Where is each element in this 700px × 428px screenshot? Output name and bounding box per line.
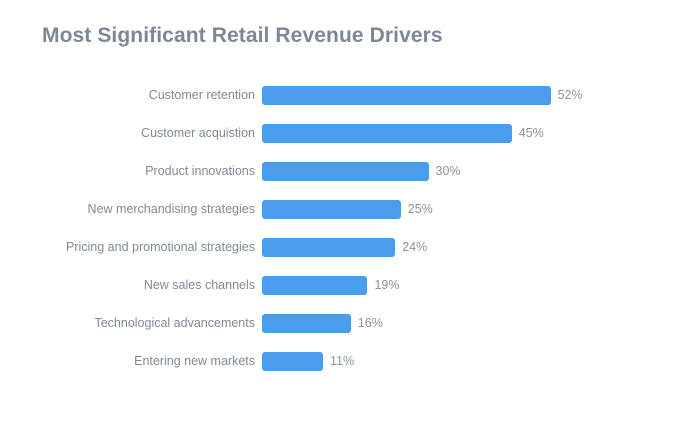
bar-category-label: Technological advancements — [0, 316, 255, 330]
bar-category-label: New merchandising strategies — [0, 202, 255, 216]
bar-row: Pricing and promotional strategies 24% — [0, 228, 700, 266]
bar-value-label: 24% — [402, 240, 427, 254]
bar-track: 19% — [255, 266, 700, 304]
bar-track: 25% — [255, 190, 700, 228]
chart-canvas: Most Significant Retail Revenue Drivers … — [0, 0, 700, 428]
bar-track: 30% — [255, 152, 700, 190]
bar-row: Customer retention 52% — [0, 76, 700, 114]
bar-row: Customer acquistion 45% — [0, 114, 700, 152]
bar-value-label: 25% — [408, 202, 433, 216]
bar-chart-plot-area: Customer retention 52% Customer acquisti… — [0, 76, 700, 380]
bar-row: New sales channels 19% — [0, 266, 700, 304]
bar-fill[interactable] — [262, 314, 351, 333]
bar-category-label: New sales channels — [0, 278, 255, 292]
bar-fill[interactable] — [262, 162, 429, 181]
bar-fill[interactable] — [262, 238, 395, 257]
bar-value-label: 11% — [330, 354, 354, 368]
bar-fill[interactable] — [262, 276, 367, 295]
bar-track: 52% — [255, 76, 700, 114]
bar-row: New merchandising strategies 25% — [0, 190, 700, 228]
bar-category-label: Customer retention — [0, 88, 255, 102]
bar-value-label: 16% — [358, 316, 383, 330]
bar-fill[interactable] — [262, 352, 323, 371]
chart-title: Most Significant Retail Revenue Drivers — [42, 24, 443, 48]
bar-fill[interactable] — [262, 124, 512, 143]
bar-category-label: Customer acquistion — [0, 126, 255, 140]
bar-category-label: Pricing and promotional strategies — [0, 240, 255, 254]
bar-track: 16% — [255, 304, 700, 342]
bar-track: 45% — [255, 114, 700, 152]
bar-value-label: 19% — [374, 278, 399, 292]
bar-row: Entering new markets 11% — [0, 342, 700, 380]
bar-value-label: 45% — [519, 126, 544, 140]
bar-row: Product innovations 30% — [0, 152, 700, 190]
bar-value-label: 52% — [558, 88, 583, 102]
bar-row: Technological advancements 16% — [0, 304, 700, 342]
bar-track: 24% — [255, 228, 700, 266]
bar-fill[interactable] — [262, 200, 401, 219]
bar-category-label: Product innovations — [0, 164, 255, 178]
bar-value-label: 30% — [436, 164, 461, 178]
bar-fill[interactable] — [262, 86, 551, 105]
bar-track: 11% — [255, 342, 700, 380]
bar-category-label: Entering new markets — [0, 354, 255, 368]
